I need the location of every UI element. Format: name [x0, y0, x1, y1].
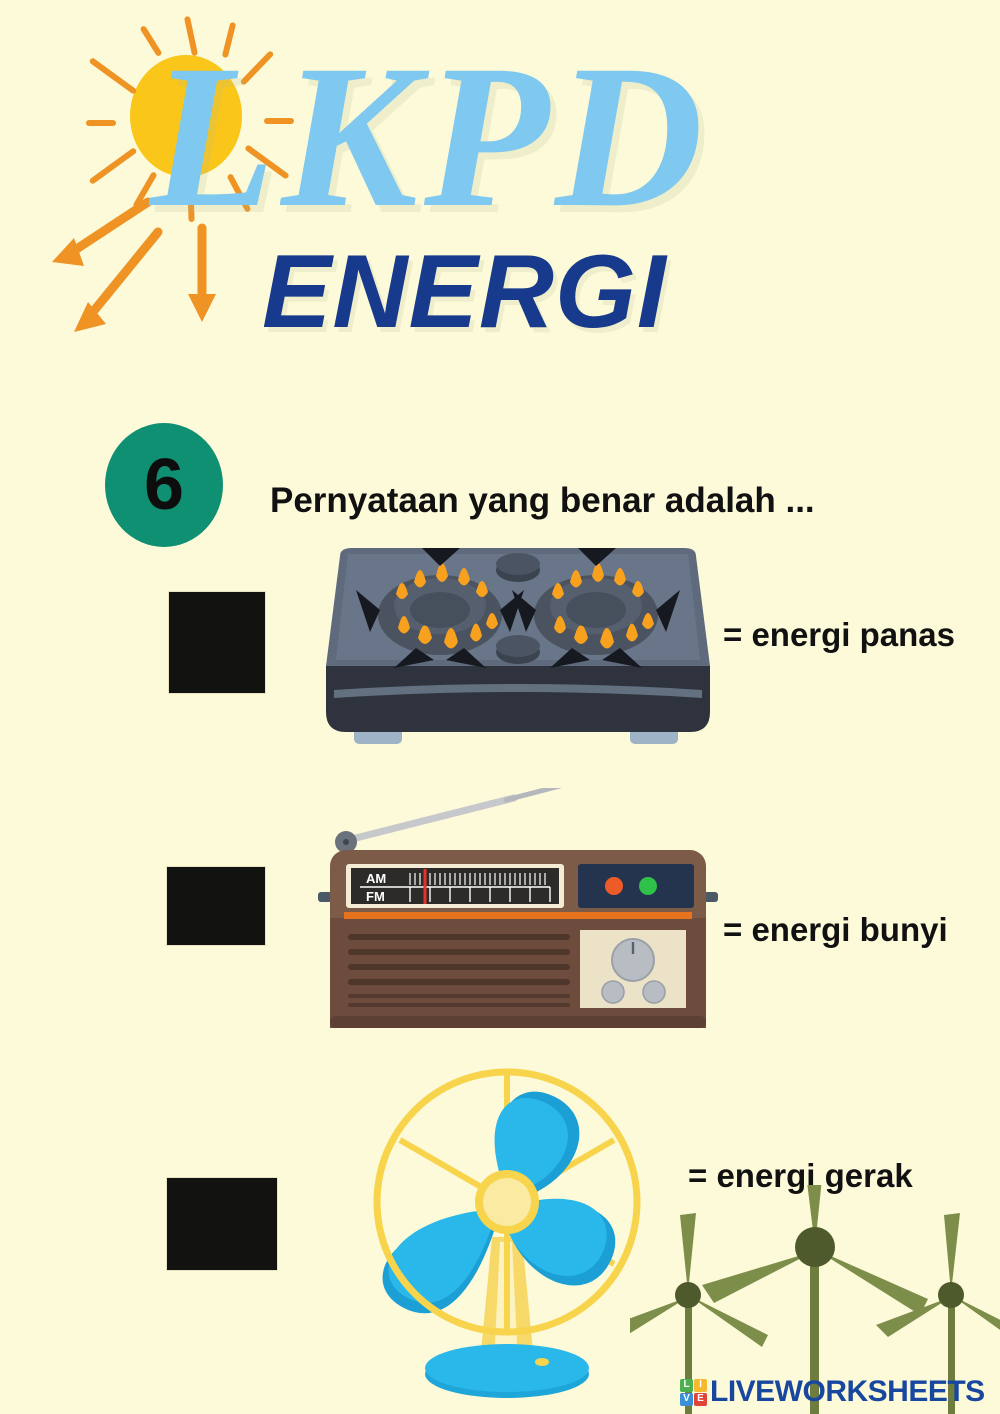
liveworksheets-logo-tiles: L I V E	[680, 1379, 707, 1406]
liveworksheets-watermark: L I V E LIVEWORKSHEETS	[680, 1374, 985, 1410]
row-label-energi-bunyi: = energi bunyi	[723, 911, 948, 949]
logo-tile-i: I	[694, 1379, 707, 1392]
liveworksheets-label: LIVEWORKSHEETS	[710, 1375, 985, 1409]
radio-image: AM FM	[318, 788, 718, 1038]
electric-fan-image	[352, 1062, 662, 1407]
logo-tile-e: E	[694, 1393, 707, 1406]
answer-input-2[interactable]	[167, 867, 265, 945]
question-prompt: Pernyataan yang benar adalah ...	[270, 481, 815, 521]
row-label-energi-panas: = energi panas	[723, 616, 955, 654]
gas-stove-image	[318, 540, 718, 755]
worksheet-header: LKPD ENERGI	[0, 0, 1000, 400]
page-title-lkpd: LKPD	[150, 34, 850, 239]
question-number: 6	[105, 423, 223, 547]
worksheet-page: LKPD ENERGI 6 Pernyataan yang benar adal…	[0, 0, 1000, 1414]
svg-text:AM: AM	[366, 871, 386, 886]
answer-input-3[interactable]	[167, 1178, 277, 1270]
answer-input-1[interactable]	[169, 592, 265, 693]
question-number-badge: 6	[105, 423, 223, 547]
svg-text:FM: FM	[366, 889, 385, 904]
logo-tile-l: L	[680, 1379, 693, 1392]
page-subtitle-energi: ENERGI	[262, 240, 667, 344]
logo-tile-v: V	[680, 1393, 693, 1406]
